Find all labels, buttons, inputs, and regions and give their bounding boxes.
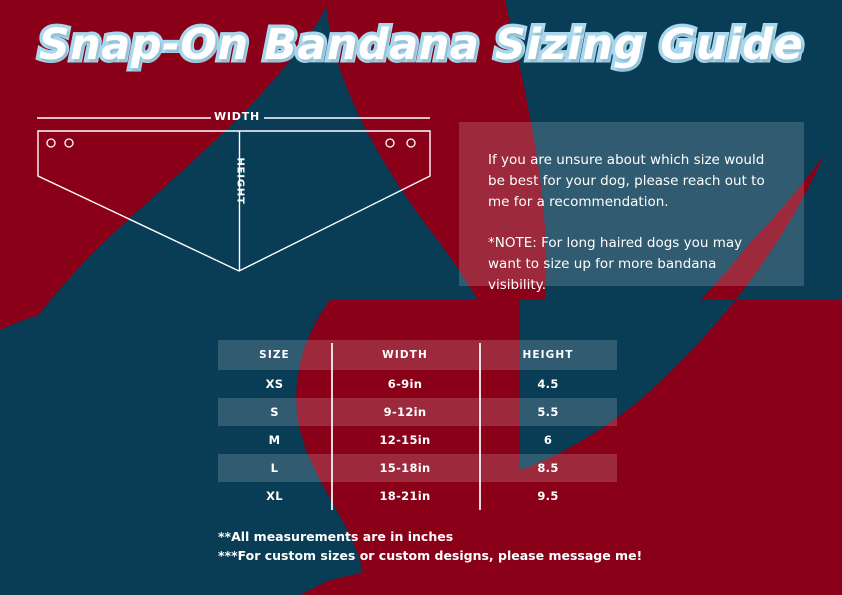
column-header-height: HEIGHT xyxy=(479,340,617,370)
info-box: If you are unsure about which size would… xyxy=(459,122,804,286)
size-table-body: XS 6-9in 4.5 S 9-12in 5.5 M 12-15in 6 L … xyxy=(218,370,617,510)
size-table-container: SIZE WIDTH HEIGHT XS 6-9in 4.5 S 9-12in … xyxy=(218,340,617,510)
size-table: SIZE WIDTH HEIGHT XS 6-9in 4.5 S 9-12in … xyxy=(218,340,617,510)
cell-height: 6 xyxy=(479,426,617,454)
cell-width: 18-21in xyxy=(331,482,479,510)
table-row: XL 18-21in 9.5 xyxy=(218,482,617,510)
cell-height: 8.5 xyxy=(479,454,617,482)
table-row: L 15-18in 8.5 xyxy=(218,454,617,482)
table-row: XS 6-9in 4.5 xyxy=(218,370,617,398)
cell-width: 15-18in xyxy=(331,454,479,482)
column-header-size: SIZE xyxy=(218,340,331,370)
cell-size: M xyxy=(218,426,331,454)
cell-size: S xyxy=(218,398,331,426)
cell-width: 9-12in xyxy=(331,398,479,426)
cell-size: L xyxy=(218,454,331,482)
column-header-width: WIDTH xyxy=(331,340,479,370)
sizing-guide-page: Snap-On Bandana Sizing Guide WIDTH HEIGH… xyxy=(0,0,842,595)
cell-width: 12-15in xyxy=(331,426,479,454)
cell-size: XS xyxy=(218,370,331,398)
footnote-custom-sizes: ***For custom sizes or custom designs, p… xyxy=(218,546,642,565)
table-row: M 12-15in 6 xyxy=(218,426,617,454)
table-column-divider-2 xyxy=(479,343,481,510)
info-box-content: If you are unsure about which size would… xyxy=(459,122,804,296)
cell-size: XL xyxy=(218,482,331,510)
cell-height: 4.5 xyxy=(479,370,617,398)
footnotes: **All measurements are in inches ***For … xyxy=(218,527,642,566)
size-table-head: SIZE WIDTH HEIGHT xyxy=(218,340,617,370)
info-paragraph-note: *NOTE: For long haired dogs you may want… xyxy=(488,233,774,296)
cell-width: 6-9in xyxy=(331,370,479,398)
table-header-row: SIZE WIDTH HEIGHT xyxy=(218,340,617,370)
cell-height: 9.5 xyxy=(479,482,617,510)
footnote-measurements: **All measurements are in inches xyxy=(218,527,642,546)
info-paragraph-recommendation: If you are unsure about which size would… xyxy=(488,150,774,213)
table-row: S 9-12in 5.5 xyxy=(218,398,617,426)
cell-height: 5.5 xyxy=(479,398,617,426)
table-column-divider-1 xyxy=(331,343,333,510)
